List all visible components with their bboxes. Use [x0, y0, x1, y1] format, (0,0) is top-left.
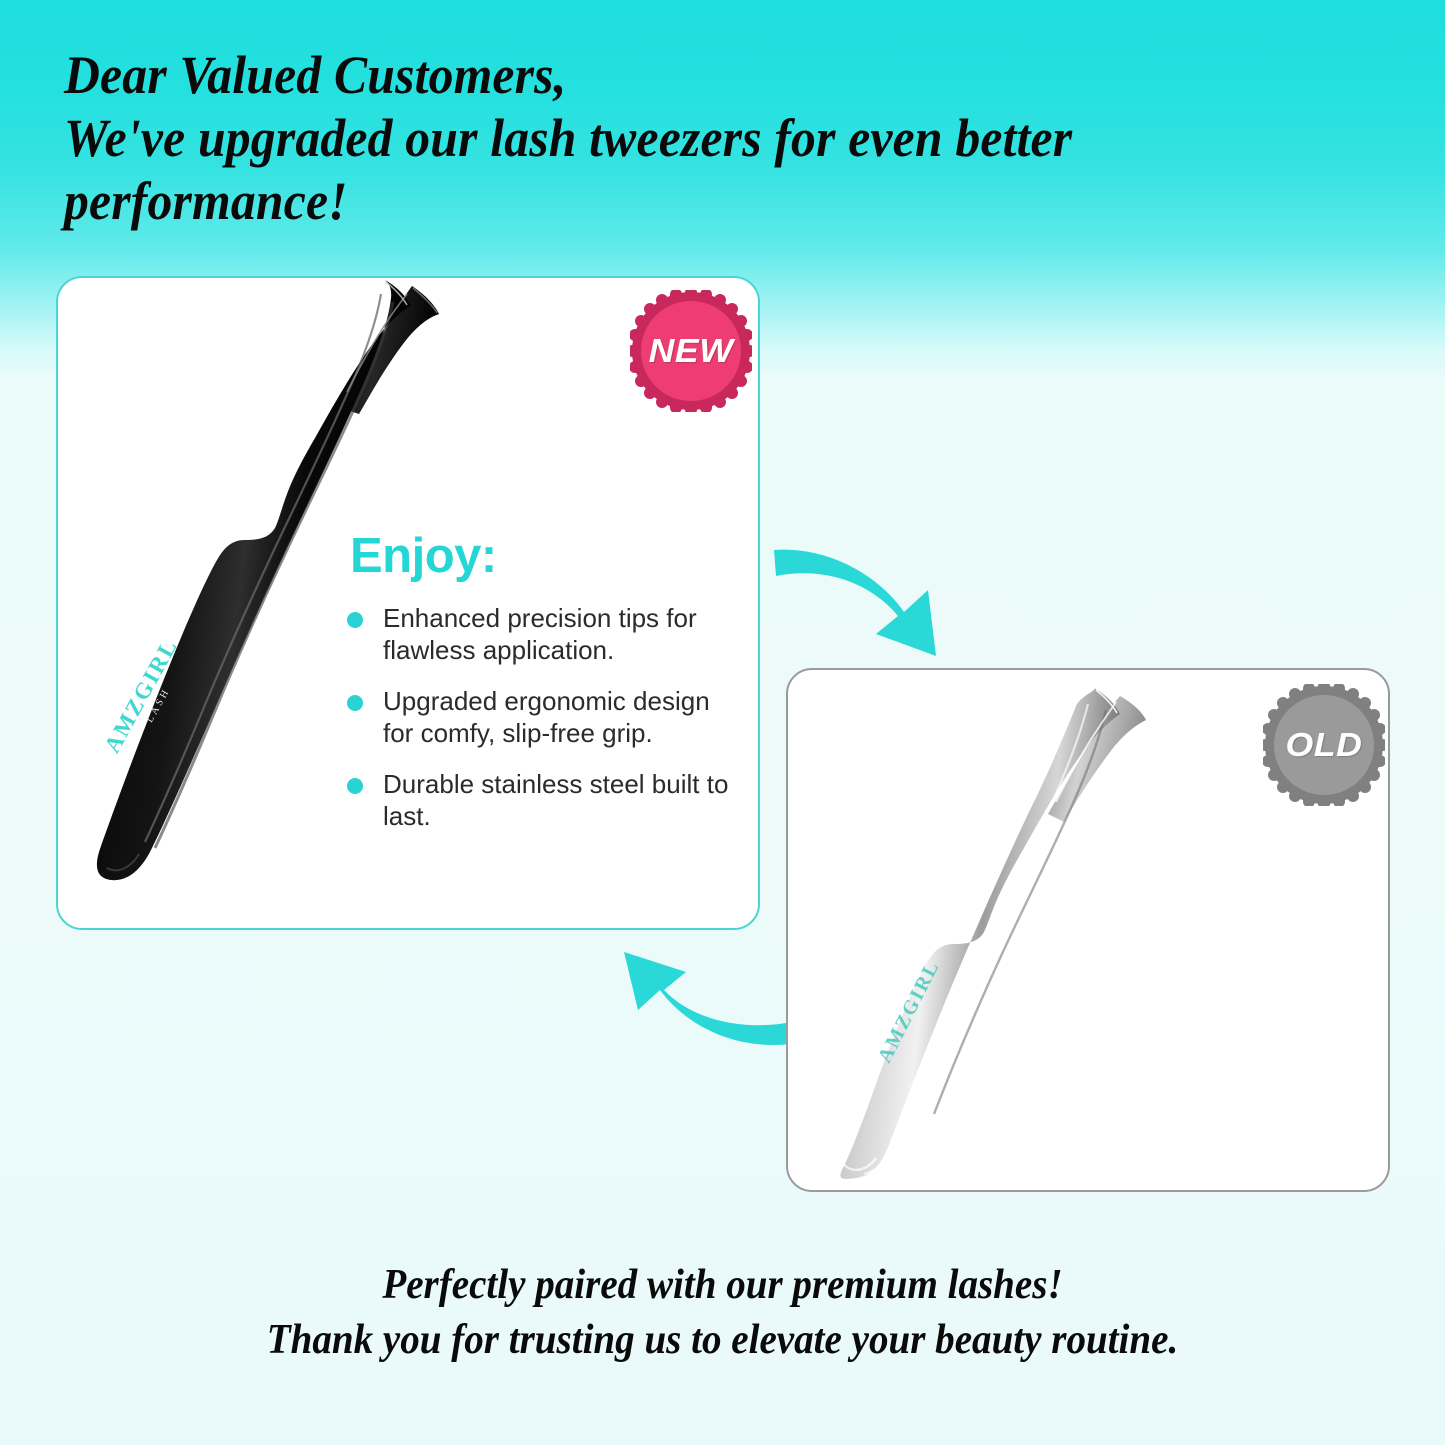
bullet-dot-icon — [347, 778, 363, 794]
new-badge-label: NEW — [625, 290, 757, 412]
list-item-label: Enhanced precision tips for flawless app… — [383, 603, 697, 665]
footer-message: Perfectly paired with our premium lashes… — [51, 1258, 1395, 1368]
old-badge-label: OLD — [1258, 684, 1390, 806]
list-item: Upgraded ergonomic design for comfy, sli… — [347, 685, 747, 749]
old-badge: OLD — [1263, 684, 1385, 806]
list-item: Enhanced precision tips for flawless app… — [347, 602, 747, 666]
page-title: Dear Valued Customers, We've upgraded ou… — [64, 44, 1288, 233]
new-badge: NEW — [630, 290, 752, 412]
promo-poster: Dear Valued Customers, We've upgraded ou… — [0, 0, 1445, 1445]
bullet-dot-icon — [347, 695, 363, 711]
benefits-list: Enhanced precision tips for flawless app… — [347, 602, 747, 832]
list-item-label: Upgraded ergonomic design for comfy, sli… — [383, 686, 710, 748]
list-item-label: Durable stainless steel built to last. — [383, 769, 728, 831]
arrow-down-right-icon — [768, 528, 968, 658]
arrow-up-left-icon — [598, 948, 798, 1063]
old-tweezer-image — [820, 680, 1240, 1180]
list-item: Durable stainless steel built to last. — [347, 768, 747, 832]
bullet-dot-icon — [347, 612, 363, 628]
enjoy-heading: Enjoy: — [350, 528, 497, 584]
